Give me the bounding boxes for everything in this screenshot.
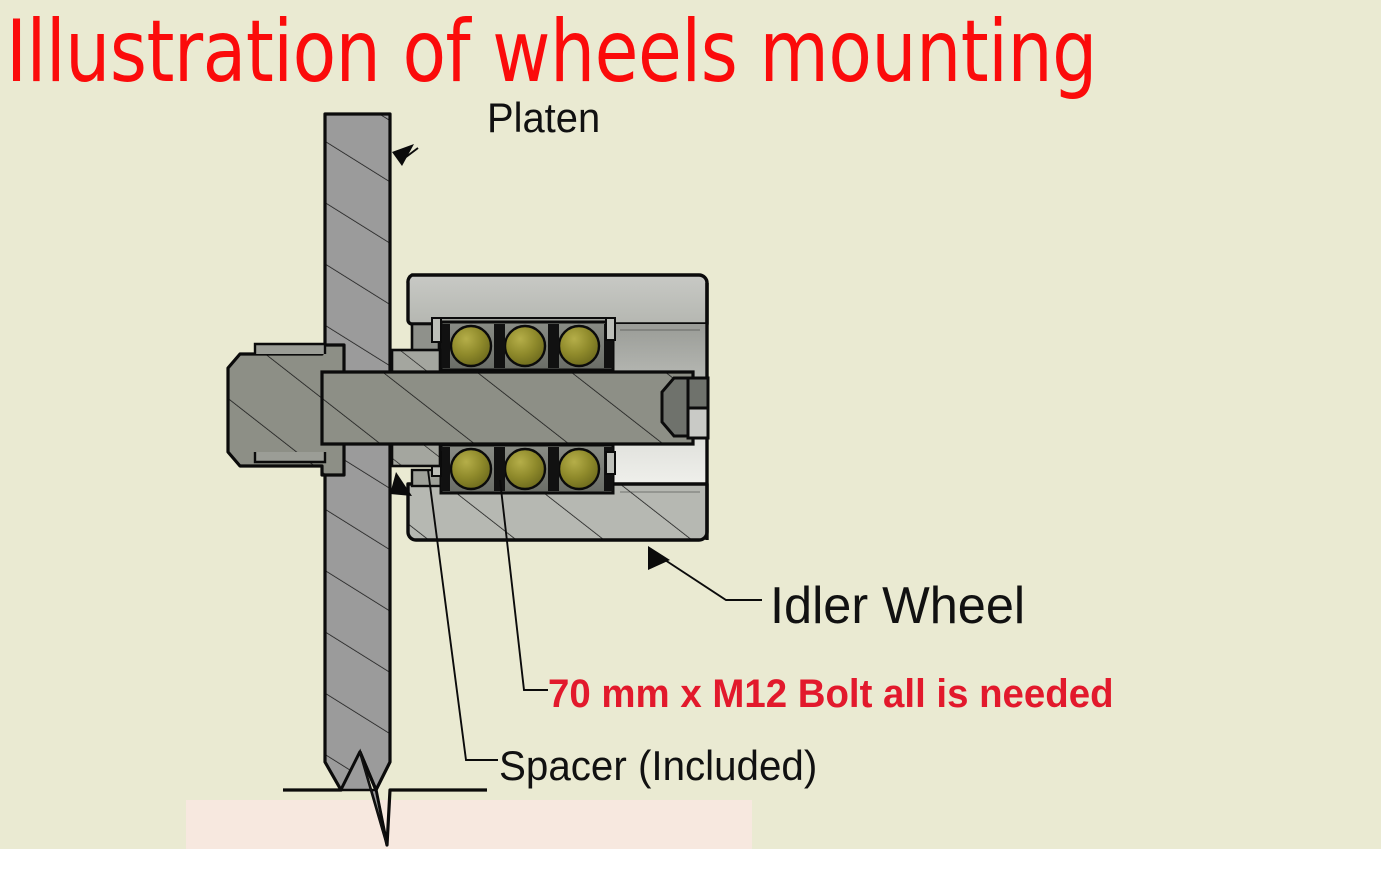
bearing-ball [559, 449, 599, 489]
bearing-ball [559, 326, 599, 366]
label-platen: Platen [487, 94, 600, 142]
pink-panel [186, 800, 752, 849]
bearing-row-lower [432, 445, 615, 493]
bearing-ball [451, 449, 491, 489]
bottom-white-bar [0, 849, 1381, 885]
label-spacer: Spacer (Included) [499, 742, 817, 790]
label-idler-wheel: Idler Wheel [770, 576, 1025, 636]
bearing-row-upper [432, 318, 615, 370]
bearing-ball [505, 449, 545, 489]
label-bolt-spec: 70 mm x M12 Bolt all is needed [548, 672, 1114, 717]
page-title: Illustration of wheels mounting [6, 6, 1097, 98]
illustration-root: Illustration of wheels mounting Platen I… [0, 0, 1381, 885]
bearing-ball [451, 326, 491, 366]
bearing-ball [505, 326, 545, 366]
